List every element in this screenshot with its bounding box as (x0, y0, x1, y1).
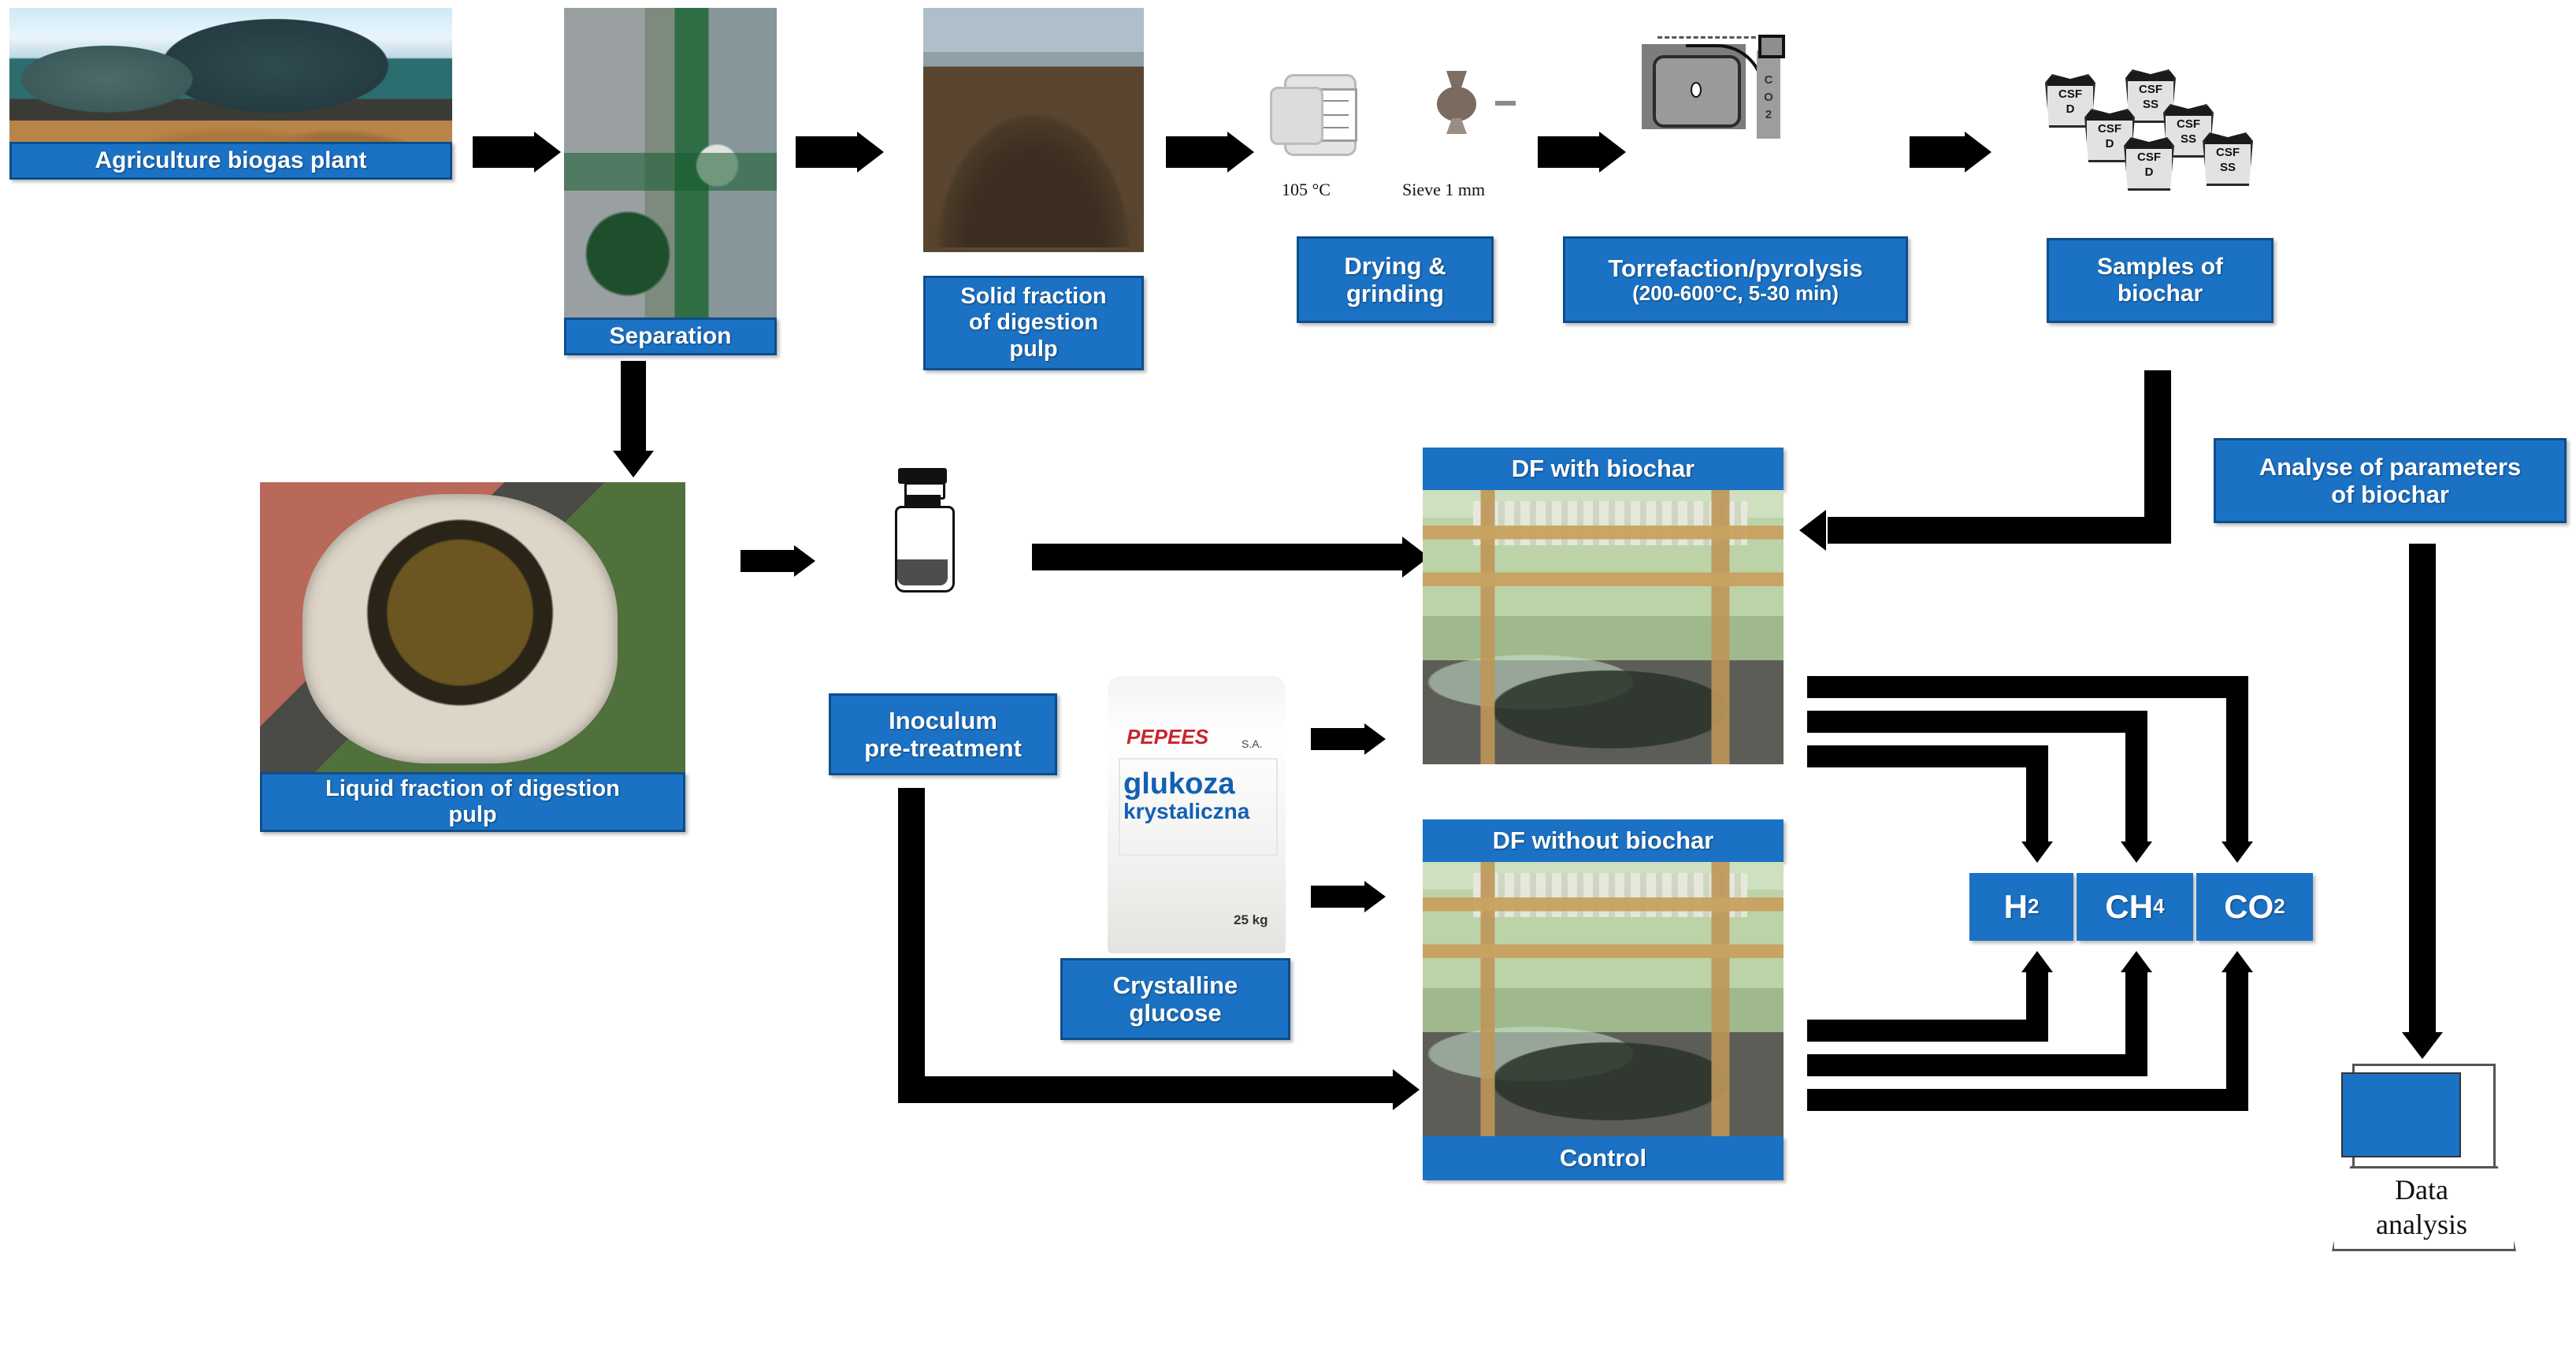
label-agriculture-biogas-plant: Agriculture biogas plant (9, 142, 452, 180)
gas-box-h2: H2 (1969, 873, 2073, 941)
photo-liquid-fraction (260, 482, 685, 775)
label-df-without-biochar: DF without biochar (1423, 819, 1784, 862)
sieve-dash-mark (1495, 101, 1516, 106)
label-control: Control (1423, 1136, 1784, 1180)
arrow-bottom-to-co2-head (2222, 951, 2253, 972)
label-liquid-fraction-of-digestion-pulp: Liquid fraction of digestion pulp (260, 772, 685, 832)
reactor-bottle-row (1473, 873, 1747, 917)
data-analysis-label-line-1: Data (2332, 1172, 2511, 1207)
sample-jar: CSFD (2124, 137, 2174, 191)
label-line-2: of digestion (969, 310, 1098, 336)
arrow-liquid-to-inoculum-shaft (741, 550, 794, 572)
sieve-icon (1434, 71, 1479, 136)
label-line-1: Analyse of parameters (2259, 453, 2522, 481)
reactor-bottle-row (1473, 501, 1747, 545)
label-line-1: Inoculum (889, 707, 997, 734)
arrow-separation-to-liquid-shaft (621, 361, 646, 455)
gas-box-ch4: CH4 (2077, 873, 2193, 941)
arrow-bottom-to-h2-horizontal (1807, 1020, 2048, 1042)
label-line-1: Liquid fraction of digestion (325, 776, 620, 802)
laptop-screen (2341, 1072, 2461, 1157)
gas-label-h2: H (2004, 888, 2028, 926)
arrow-bottom-to-ch4-head (2121, 951, 2152, 972)
glucose-bag-texture (1119, 758, 1278, 856)
arrow-inoculum-to-control-horizontal (898, 1076, 1393, 1103)
data-analysis-laptop-icon: Data analysis (2332, 1064, 2515, 1253)
label-line-3: pulp (1009, 336, 1057, 362)
co2-cylinder-icon: CO2 (1757, 50, 1780, 139)
label-line-2: pulp (448, 802, 496, 828)
oven-temperature-caption: 105 °C (1282, 180, 1331, 200)
label-inoculum-pre-treatment: Inoculum pre-treatment (829, 693, 1057, 775)
arrow-top-to-h2-head (2021, 841, 2053, 863)
photo-df-without-biochar-reactors (1423, 862, 1784, 1136)
arrow-solid-to-drying-shaft (1166, 136, 1227, 168)
label-line-2: of biochar (2331, 481, 2449, 508)
torrefaction-furnace-icon: CO2 (1642, 36, 1791, 143)
arrow-inoculum-to-df-with-biochar-shaft (1032, 544, 1402, 570)
gas-subscript-ch4: 4 (2153, 895, 2164, 919)
label-torrefaction-pyrolysis: Torrefaction/pyrolysis (200-600°C, 5-30 … (1563, 236, 1908, 323)
arrow-biochar-to-df-horizontal (1828, 517, 2171, 544)
photo-df-with-biochar-reactors (1423, 490, 1784, 764)
sample-jar: CSFSS (2203, 132, 2253, 186)
label-text: DF without biochar (1493, 827, 1714, 854)
arrow-glucose-to-df-with-biochar-head (1364, 723, 1386, 755)
label-text: Control (1560, 1144, 1646, 1172)
label-text: Separation (609, 323, 731, 350)
arrow-bottom-to-co2-horizontal (1807, 1089, 2248, 1111)
drying-oven-icon (1270, 69, 1364, 158)
arrow-separation-to-solid-shaft (796, 136, 857, 168)
arrow-torrefaction-to-samples-head (1965, 132, 1991, 173)
gas-box-co2: CO2 (2196, 873, 2313, 941)
label-line-2: grinding (1346, 280, 1444, 307)
label-analyse-of-parameters-of-biochar: Analyse of parameters of biochar (2214, 438, 2567, 523)
arrow-drying-to-torrefaction-head (1599, 132, 1626, 173)
arrow-solid-to-drying-head (1227, 132, 1254, 173)
label-line-1: Crystalline (1113, 971, 1238, 999)
arrow-bottom-to-h2-head (2021, 951, 2053, 972)
arrow-inoculum-to-control-head (1393, 1069, 1420, 1110)
arrow-drying-to-torrefaction-shaft (1538, 136, 1599, 168)
arrow-liquid-to-inoculum-head (794, 545, 815, 577)
gas-subscript-h2: 2 (2028, 895, 2039, 919)
arrow-top-to-ch4-horizontal (1807, 711, 2147, 733)
arrow-bottom-to-co2-vertical (2226, 972, 2248, 1111)
arrow-top-to-h2-horizontal (1807, 745, 2048, 767)
photo-separation (564, 8, 777, 323)
arrow-separation-to-solid-head (857, 132, 884, 173)
photo-solid-fraction (923, 8, 1144, 252)
arrow-analyse-to-data-shaft (2409, 544, 2436, 1037)
arrow-glucose-to-df-with-biochar-shaft (1311, 728, 1364, 750)
arrow-top-to-ch4-vertical (2125, 711, 2147, 843)
sieve-size-caption: Sieve 1 mm (1402, 180, 1485, 200)
arrow-top-to-h2-vertical (2026, 745, 2048, 843)
label-line-1: Torrefaction/pyrolysis (1608, 254, 1862, 282)
arrow-plant-to-separation-head (534, 132, 561, 173)
gas-label-co2: CO (2224, 888, 2273, 926)
data-analysis-label-line-2: analysis (2332, 1207, 2511, 1242)
label-line-2: (200-600°C, 5-30 min) (1632, 282, 1839, 306)
label-drying-and-grinding: Drying & grinding (1297, 236, 1494, 323)
arrow-bottom-to-ch4-horizontal (1807, 1054, 2147, 1076)
arrow-bottom-to-h2-vertical (2026, 972, 2048, 1042)
arrow-plant-to-separation-shaft (473, 136, 534, 168)
biochar-sample-jars-icon: CSFD CSFSS CSFD CSFSS CSFD CSFSS (2045, 44, 2297, 186)
arrow-biochar-to-df-head (1799, 510, 1826, 551)
arrow-torrefaction-to-samples-shaft (1910, 136, 1965, 168)
label-line-2: pre-treatment (864, 734, 1022, 762)
label-line-1: Solid fraction (960, 284, 1106, 310)
label-separation: Separation (564, 318, 777, 355)
arrow-top-to-ch4-head (2121, 841, 2152, 863)
gas-subscript-co2: 2 (2273, 895, 2285, 919)
label-text: DF with biochar (1512, 455, 1695, 482)
label-line-2: glucose (1129, 999, 1221, 1027)
label-line-2: biochar (2118, 280, 2203, 307)
label-crystalline-glucose: Crystalline glucose (1060, 958, 1290, 1040)
arrow-bottom-to-ch4-vertical (2125, 972, 2147, 1076)
arrow-top-to-co2-vertical (2226, 676, 2248, 843)
arrow-top-to-co2-head (2222, 841, 2253, 863)
label-solid-fraction-of-digestion-pulp: Solid fraction of digestion pulp (923, 276, 1144, 370)
glucose-weight-label: 25 kg (1234, 912, 1268, 928)
label-line-1: Samples of (2097, 254, 2223, 280)
photo-crystalline-glucose-bag: PEPEES S.A. glukoza krystaliczna 25 kg (1108, 676, 1286, 953)
label-line-1: Drying & (1344, 252, 1446, 280)
flowchart-canvas: Agriculture biogas plant Separation Soli… (0, 0, 2576, 1356)
arrow-inoculum-to-control-vertical (898, 788, 925, 1103)
arrow-analyse-to-data-head (2402, 1032, 2443, 1059)
gas-label-ch4: CH (2105, 888, 2153, 926)
label-df-with-biochar: DF with biochar (1423, 448, 1784, 490)
inoculum-bottle-icon (887, 468, 960, 593)
arrow-glucose-to-df-without-biochar-shaft (1311, 886, 1364, 908)
label-samples-of-biochar: Samples of biochar (2047, 238, 2273, 323)
arrow-separation-to-liquid-head (613, 451, 654, 477)
arrow-glucose-to-df-without-biochar-head (1364, 881, 1386, 912)
arrow-top-to-co2-horizontal (1807, 676, 2248, 698)
label-text: Agriculture biogas plant (95, 147, 366, 174)
glucose-brand-suffix: S.A. (1242, 737, 1262, 750)
